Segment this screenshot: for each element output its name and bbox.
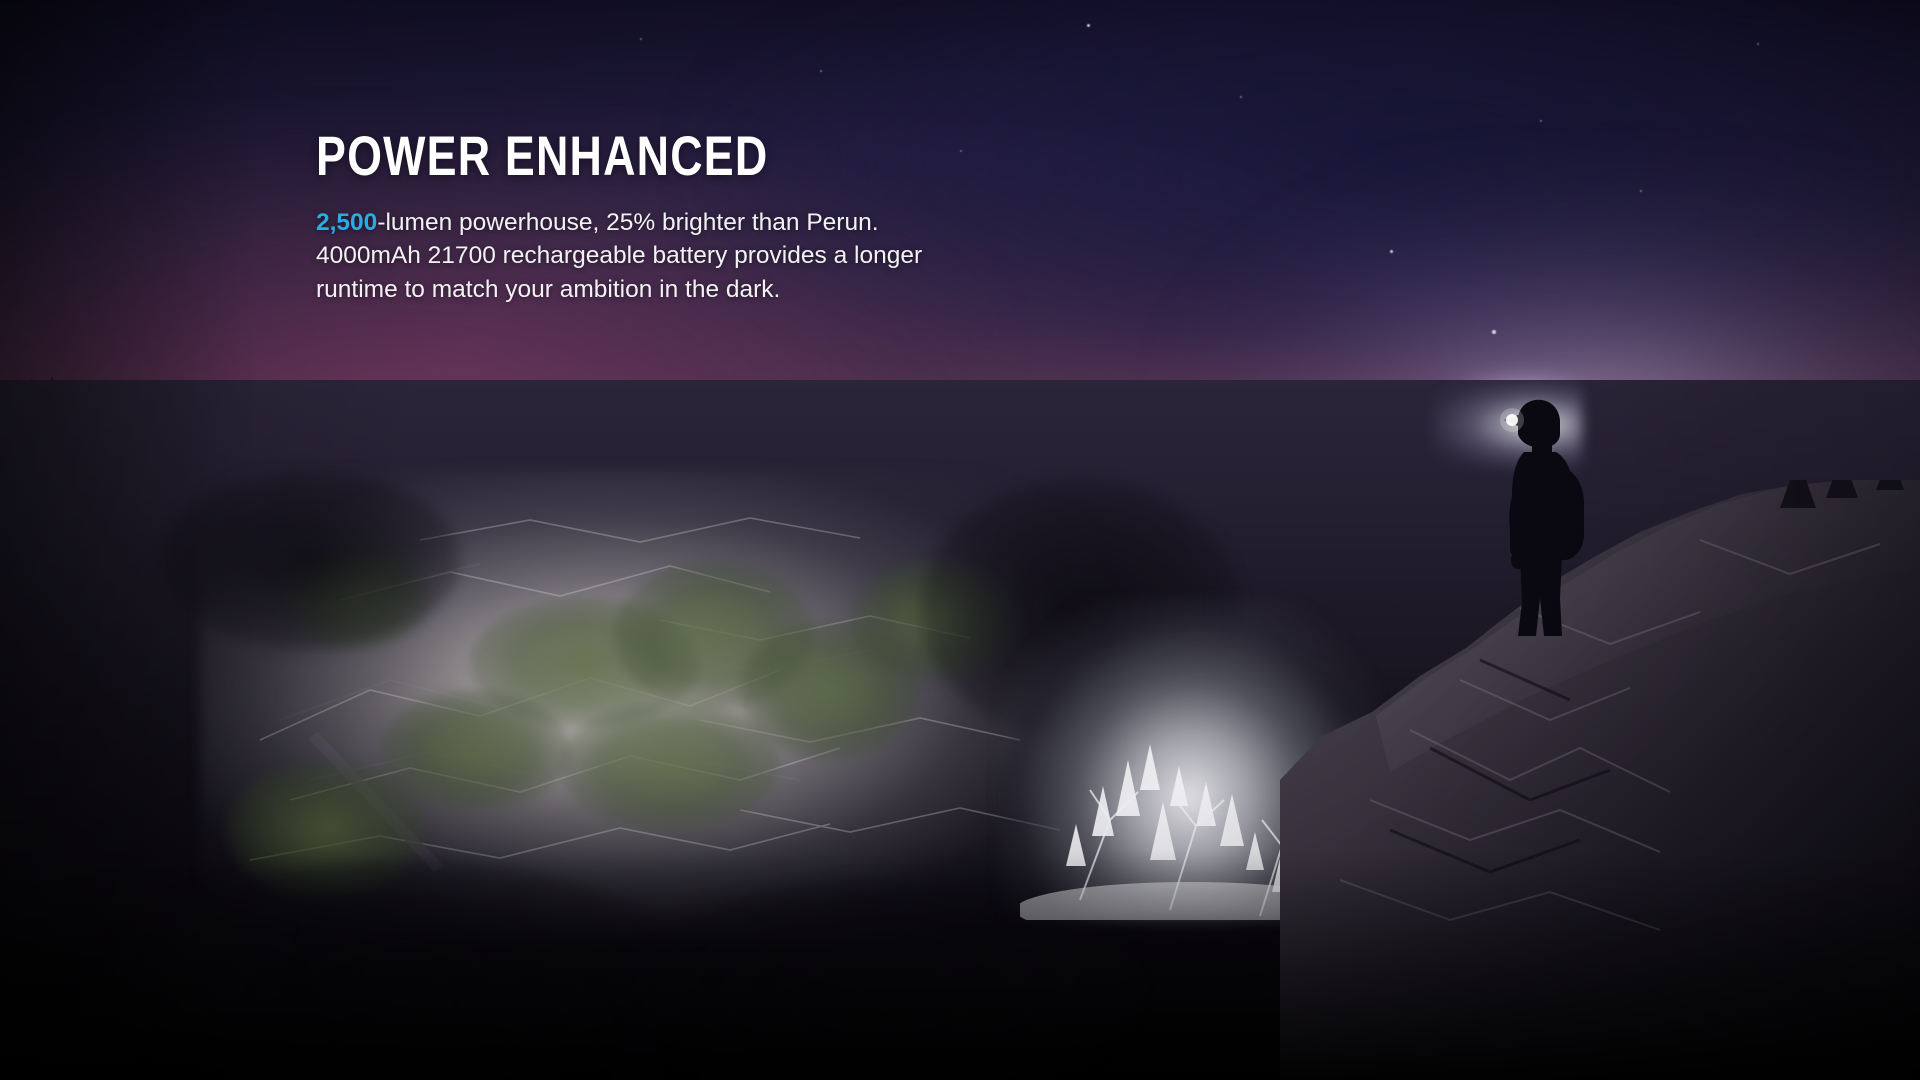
page-title: POWER ENHANCED [316,128,876,184]
rock-shadow [160,470,460,650]
star [1240,96,1242,98]
description-text: -lumen powerhouse, 25% brighter than Per… [316,209,922,303]
hiker-silhouette [1478,390,1598,640]
star [1757,43,1759,45]
star [820,70,822,72]
star [640,38,642,40]
foreground-pines [180,800,800,1080]
star [1087,24,1090,27]
lumen-value: 2,500 [316,209,377,236]
star [1540,120,1542,122]
product-description: 2,500-lumen powerhouse, 25% brighter tha… [316,206,946,306]
marketing-copy: POWER ENHANCED 2,500-lumen powerhouse, 2… [316,128,1016,306]
hero-banner: POWER ENHANCED 2,500-lumen powerhouse, 2… [0,0,1920,1080]
rock-cliff [1280,480,1920,1080]
